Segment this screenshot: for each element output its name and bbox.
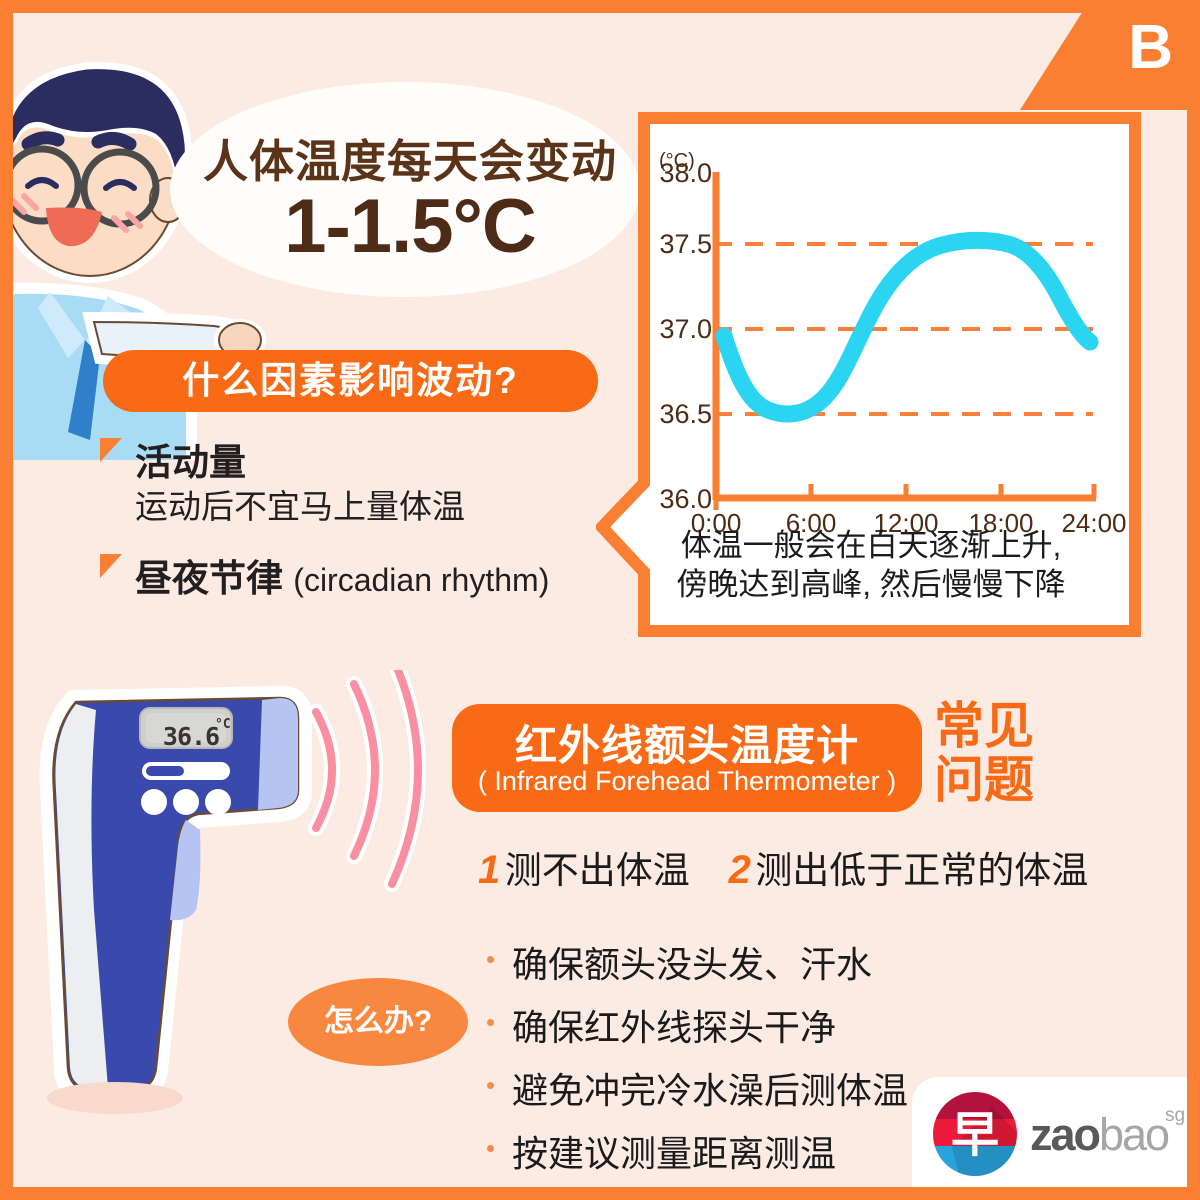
factor-title: 活动量 — [135, 432, 246, 486]
thermometer-banner-cn: 红外线额头温度计 — [452, 712, 922, 773]
faq-label-line1: 常见 — [934, 700, 1064, 754]
factor-title-en: (circadian rhythm) — [293, 562, 549, 598]
howto-label: 怎么办? — [288, 978, 468, 1066]
chart-caption: 体温一般会在白天逐渐上升, 傍晚达到高峰, 然后慢慢下降 — [641, 527, 1101, 605]
zaobao-mark-icon: 早 — [930, 1089, 1020, 1179]
question-number-1: 1 — [478, 848, 500, 892]
frame-left — [0, 0, 13, 1200]
thermometer-banner-en: ( Infrared Forehead Thermometer ) — [452, 766, 922, 797]
list-item: 确保额头没头发、汗水 — [482, 936, 908, 988]
svg-text:早: 早 — [951, 1107, 999, 1163]
howto-bubble: 怎么办? — [288, 978, 468, 1066]
factors-banner: 什么因素影响波动? — [103, 350, 598, 412]
list-item: 确保红外线探头干净 — [482, 999, 908, 1051]
logo-sg: sg — [1165, 1105, 1185, 1127]
question-text-1: 测不出体温 — [505, 850, 690, 891]
infographic-canvas: 人体温度每天会变动 1-1.5°C 什么因素影响波动? 活动量 运动后不宜马上量… — [0, 0, 1200, 1200]
corner-badge-letter: B — [1128, 12, 1172, 83]
y-tick-37: 37.0 — [638, 314, 712, 345]
thermometer-display-unit: °C — [215, 717, 231, 732]
question-text-2: 测出低于正常的体温 — [755, 850, 1088, 891]
bubble-heading: 人体温度每天会变动 — [180, 125, 640, 190]
question-number-2: 2 — [729, 848, 751, 892]
chart-callout-box: (°C) 38.0 37.5 37.0 36.5 36.0 0:00 6:00 … — [596, 112, 1141, 637]
factor-title: 昼夜节律 (circadian rhythm) — [135, 548, 549, 602]
question-row: 1 测不出体温 2 测出低于正常的体温 — [478, 840, 1088, 894]
faq-label: 常见 问题 — [934, 700, 1064, 807]
factors-banner-label: 什么因素影响波动? — [103, 350, 598, 412]
factor-subtitle: 运动后不宜马上量体温 — [135, 480, 465, 528]
frame-right — [1187, 0, 1200, 1200]
logo-zao: zao — [1030, 1109, 1099, 1161]
chart-caption-line2: 傍晚达到高峰, 然后慢慢下降 — [641, 566, 1101, 605]
frame-bottom — [0, 1187, 1200, 1200]
corner-badge: B — [1020, 0, 1200, 110]
bubble-value: 1-1.5°C — [180, 183, 640, 270]
factor-title-cn: 昼夜节律 — [135, 558, 283, 599]
triangle-bullet-icon — [100, 554, 122, 578]
triangle-bullet-icon — [100, 438, 122, 462]
thermometer-banner: 红外线额头温度计 ( Infrared Forehead Thermometer… — [452, 704, 922, 812]
list-item: 按建议测量距离测温 — [482, 1125, 908, 1177]
y-tick-38: 38.0 — [638, 158, 712, 189]
zaobao-logo: 早 zao bao sg — [912, 1077, 1187, 1187]
advice-list: 确保额头没头发、汗水 确保红外线探头干净 避免冲完冷水澡后测体温 按建议测量距离… — [482, 936, 908, 1188]
logo-bao: bao — [1099, 1109, 1168, 1161]
y-tick-36-5: 36.5 — [638, 399, 712, 430]
chart-caption-line1: 体温一般会在白天逐渐上升, — [641, 527, 1101, 566]
faq-label-line2: 问题 — [934, 754, 1064, 808]
list-item: 避免冲完冷水澡后测体温 — [482, 1062, 908, 1114]
y-tick-37-5: 37.5 — [638, 229, 712, 260]
